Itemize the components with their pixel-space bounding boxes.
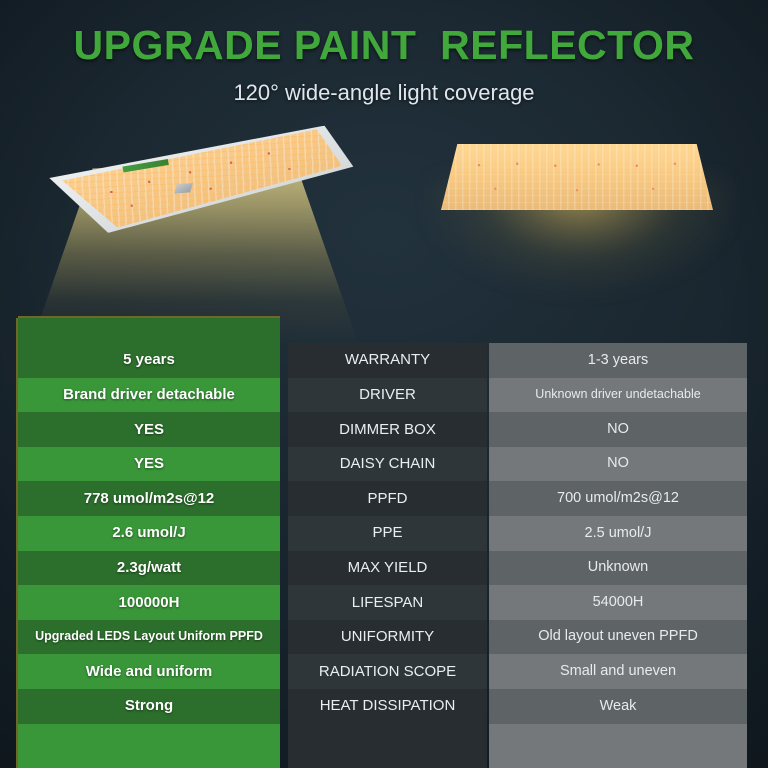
cell-specification: PPFD bbox=[288, 481, 487, 516]
cell-others: 2.5 umol/J bbox=[489, 516, 747, 551]
cell-filler bbox=[288, 724, 487, 768]
cell-others: Small and uneven bbox=[489, 654, 747, 689]
cell-specification: DIMMER BOX bbox=[288, 412, 487, 447]
column-specification-rows: WARRANTYDRIVERDIMMER BOXDAISY CHAINPPFDP… bbox=[288, 343, 487, 768]
cell-specification: DAISY CHAIN bbox=[288, 447, 487, 482]
column-others-rows: 1-3 yearsUnknown driver undetachableNONO… bbox=[489, 343, 747, 768]
column-upgraded-rows: 5 yearsBrand driver detachableYESYES778 … bbox=[18, 343, 280, 768]
cell-filler bbox=[18, 724, 280, 768]
cell-upgraded: Strong bbox=[18, 689, 280, 724]
standard-panel-led-diodes bbox=[441, 144, 713, 210]
cell-others: Unknown driver undetachable bbox=[489, 378, 747, 413]
cell-specification: RADIATION SCOPE bbox=[288, 654, 487, 689]
cell-others: Weak bbox=[489, 689, 747, 724]
cell-upgraded: 5 years bbox=[18, 343, 280, 378]
cell-upgraded: 2.6 umol/J bbox=[18, 516, 280, 551]
cell-upgraded: 100000H bbox=[18, 585, 280, 620]
page-title: UPGRADE PAINT REFLECTOR bbox=[0, 22, 768, 69]
column-upgraded: 5 yearsBrand driver detachableYESYES778 … bbox=[18, 318, 280, 768]
cell-filler bbox=[489, 724, 747, 768]
header: UPGRADE PAINT REFLECTOR 120° wide-angle … bbox=[0, 0, 768, 106]
cell-specification: DRIVER bbox=[288, 378, 487, 413]
cell-specification: WARRANTY bbox=[288, 343, 487, 378]
cell-specification: MAX YIELD bbox=[288, 551, 487, 586]
cell-specification: HEAT DISSIPATION bbox=[288, 689, 487, 724]
product-illustration bbox=[0, 120, 768, 350]
comparison-table: 5 yearsBrand driver detachableYESYES778 … bbox=[0, 318, 768, 768]
cell-specification: PPE bbox=[288, 516, 487, 551]
cell-others: NO bbox=[489, 447, 747, 482]
page-subtitle: 120° wide-angle light coverage bbox=[0, 80, 768, 106]
cell-upgraded: 2.3g/watt bbox=[18, 551, 280, 586]
cell-others: 700 umol/m2s@12 bbox=[489, 481, 747, 516]
cell-specification: UNIFORMITY bbox=[288, 620, 487, 655]
cell-others: 54000H bbox=[489, 585, 747, 620]
cell-others: NO bbox=[489, 412, 747, 447]
column-others: 1-3 yearsUnknown driver undetachableNONO… bbox=[489, 343, 747, 768]
cell-specification: LIFESPAN bbox=[288, 585, 487, 620]
cell-upgraded: Upgraded LEDS Layout Uniform PPFD bbox=[18, 620, 280, 655]
cell-upgraded: Wide and uniform bbox=[18, 654, 280, 689]
cell-others: 1-3 years bbox=[489, 343, 747, 378]
panel-dimmer-box bbox=[174, 183, 193, 194]
cell-upgraded: Brand driver detachable bbox=[18, 378, 280, 413]
cell-upgraded: YES bbox=[18, 447, 280, 482]
cell-upgraded: 778 umol/m2s@12 bbox=[18, 481, 280, 516]
cell-others: Unknown bbox=[489, 551, 747, 586]
cell-others: Old layout uneven PPFD bbox=[489, 620, 747, 655]
column-specification: WARRANTYDRIVERDIMMER BOXDAISY CHAINPPFDP… bbox=[288, 343, 487, 768]
cell-upgraded: YES bbox=[18, 412, 280, 447]
